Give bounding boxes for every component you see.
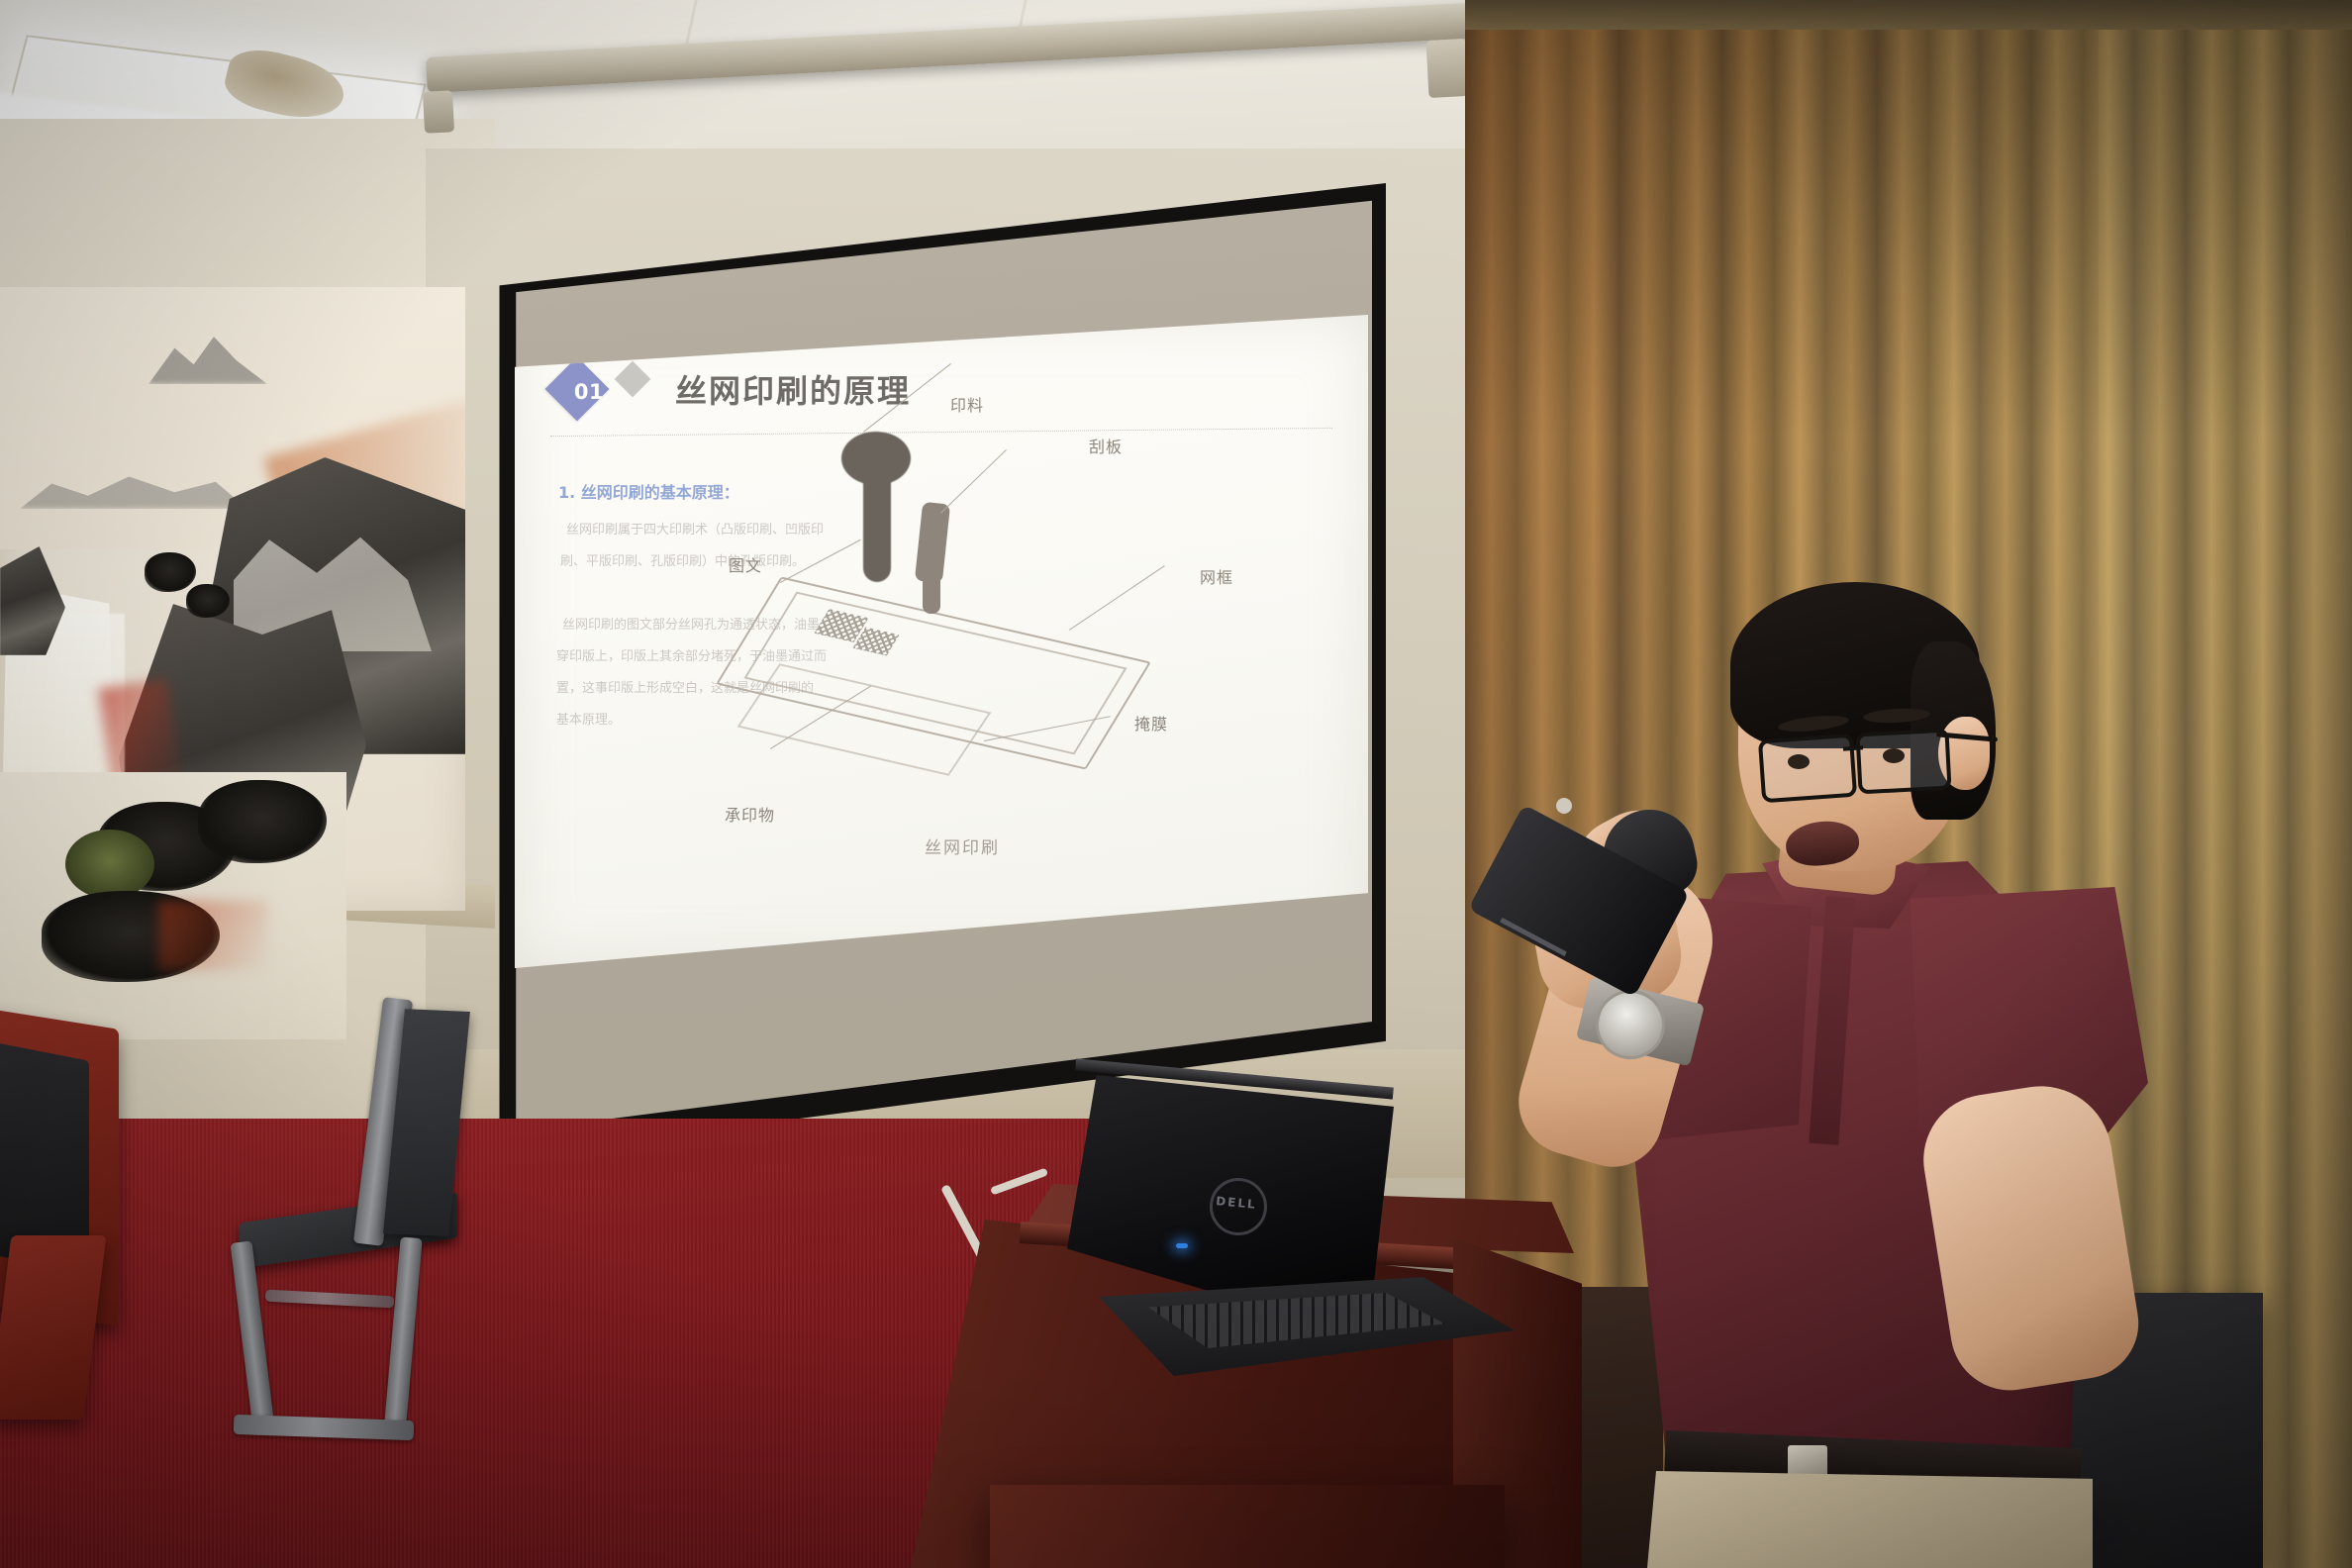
presenter-eye <box>1883 748 1905 763</box>
squeegee-label: 刮板 <box>1089 434 1123 457</box>
slide-title-rule <box>550 428 1332 437</box>
diagram-squeegee-blade <box>923 568 940 614</box>
frame-label: 网框 <box>1200 564 1233 588</box>
podium-base <box>990 1485 1505 1568</box>
substrate-label: 承印物 <box>725 802 775 826</box>
eyeglasses-lens-right <box>1855 729 1951 795</box>
curtain-rail <box>1465 0 2352 30</box>
chinese-landscape-mural-lower <box>0 772 346 1039</box>
mask-label: 掩膜 <box>1134 711 1168 735</box>
slide-section-heading: 1. 丝网印刷的基本原理： <box>558 479 739 503</box>
projection-screen-roller-cap <box>1426 39 1469 98</box>
diagram-caption: 丝网印刷 <box>925 833 1000 858</box>
laptop-power-led-icon <box>1176 1243 1188 1248</box>
mural-pine <box>198 780 327 863</box>
projection-screen-roller-cap <box>423 90 454 134</box>
mural-red-foliage <box>158 901 267 970</box>
slide-body-line: 丝网印刷属于四大印刷术（凸版印刷、凹版印 <box>566 519 824 538</box>
mural-pine <box>145 552 196 592</box>
slide-title: 丝网印刷的原理 <box>675 366 911 412</box>
presenter-trousers <box>1647 1471 2093 1568</box>
eyeglasses-lens-left <box>1758 734 1857 804</box>
presentation-slide: 01 丝网印刷的原理 1. 丝网印刷的基本原理： 丝网印刷属于四大印刷术（凸版印… <box>515 315 1368 968</box>
slide-accent-diamond <box>615 361 651 398</box>
diagram-leader-line <box>940 449 1007 514</box>
mural-green-foliage <box>65 830 154 899</box>
diagram-ink-stream <box>863 463 891 582</box>
ink-label: 印料 <box>950 392 984 416</box>
presentation-room-photo: 01 丝网印刷的原理 1. 丝网印刷的基本原理： 丝网印刷属于四大印刷术（凸版印… <box>0 0 2352 1568</box>
presenter-eye <box>1788 754 1810 769</box>
slide-number: 01 <box>566 380 612 404</box>
artwork-label: 图文 <box>729 552 762 576</box>
slide-body-line: 刷、平版印刷、孔版印刷）中的孔版印刷。 <box>560 550 805 569</box>
diagram-leader-line <box>1069 565 1165 631</box>
slide-body-line: 基本原理。 <box>556 709 621 728</box>
microphone-clip-dot <box>1556 798 1572 814</box>
